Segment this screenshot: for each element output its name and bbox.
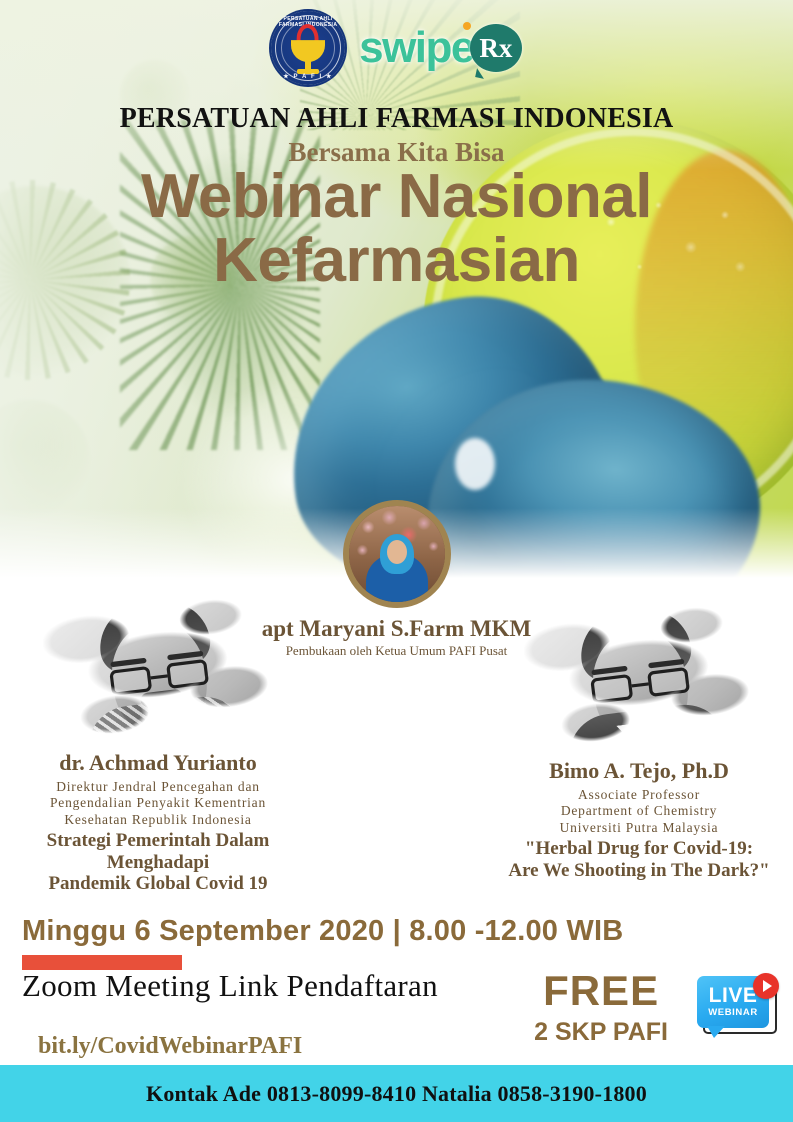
- speaker-left-topic: Strategi Pemerintah Dalam Menghadapi Pan…: [8, 830, 308, 894]
- live-label: LIVE: [709, 986, 758, 1006]
- pafi-emblem-icon: PERSATUAN AHLI FARMASI INDONESIA ★ P A F…: [271, 11, 345, 85]
- play-button-icon: [753, 973, 779, 999]
- speaker-right-photo-mask: [524, 596, 754, 756]
- portrait-lens: [109, 666, 152, 696]
- free-badge: FREE 2 SKP PAFI: [534, 970, 668, 1047]
- pafi-logo-bottom-text: ★ P A F I ★: [271, 73, 345, 80]
- contact-text: Kontak Ade 0813-8099-8410 Natalia 0858-3…: [146, 1081, 647, 1107]
- portrait-lens: [166, 659, 209, 689]
- affiliation-line: Pengendalian Penyakit Kementrian: [8, 795, 308, 811]
- speaker-left-name: dr. Achmad Yurianto: [8, 750, 308, 776]
- avatar: [343, 500, 451, 608]
- speaker-left-affiliation: Direktur Jendral Pencegahan dan Pengenda…: [8, 779, 308, 828]
- speaker-right-affiliation: Associate Professor Department of Chemis…: [489, 787, 789, 836]
- glove-highlight: [455, 438, 495, 490]
- registration-link[interactable]: bit.ly/CovidWebinarPAFI: [38, 1033, 302, 1060]
- topic-line: Pandemik Global Covid 19: [8, 873, 308, 894]
- event-date-time: Minggu 6 September 2020 | 8.00 -12.00 WI…: [22, 915, 623, 948]
- organization-name: PERSATUAN AHLI FARMASI INDONESIA: [0, 103, 793, 135]
- page-title: Webinar Nasional Kefarmasian: [0, 165, 793, 294]
- rx-speech-bubble-icon: Rx: [470, 24, 522, 72]
- logo-row: PERSATUAN AHLI FARMASI INDONESIA ★ P A F…: [0, 8, 793, 88]
- portrait-lens: [590, 674, 633, 704]
- skp-label: 2 SKP PAFI: [534, 1018, 668, 1047]
- speaker-left-block: dr. Achmad Yurianto Direktur Jendral Pen…: [8, 588, 308, 894]
- speaker-left-photo: [43, 588, 273, 748]
- speaker-right-photo: [524, 596, 754, 756]
- webinar-label: WEBINAR: [708, 1007, 758, 1018]
- portrait-lens: [647, 667, 690, 697]
- affiliation-line: Associate Professor: [489, 787, 789, 803]
- webinar-poster: PERSATUAN AHLI FARMASI INDONESIA ★ P A F…: [0, 0, 793, 1122]
- affiliation-line: Direktur Jendral Pencegahan dan: [8, 779, 308, 795]
- affiliation-line: Universiti Putra Malaysia: [489, 820, 789, 836]
- avatar-face: [387, 540, 407, 564]
- portrait-bridge: [150, 674, 167, 679]
- contact-footer: Kontak Ade 0813-8099-8410 Natalia 0858-3…: [0, 1065, 793, 1122]
- swiperx-logo-icon: swipe Rx: [359, 24, 522, 72]
- speaker-right-topic: "Herbal Drug for Covid-19: Are We Shooti…: [489, 838, 789, 881]
- registration-label: Zoom Meeting Link Pendaftaran: [22, 968, 438, 1004]
- portrait-bridge: [631, 682, 648, 687]
- affiliation-line: Department of Chemistry: [489, 803, 789, 819]
- title-line-2: Kefarmasian: [0, 229, 793, 293]
- speaker-right-name: Bimo A. Tejo, Ph.D: [489, 758, 789, 784]
- swipe-wordmark: swipe: [359, 26, 474, 70]
- topic-line: "Herbal Drug for Covid-19:: [489, 838, 789, 859]
- live-webinar-badge: LIVE WEBINAR: [697, 976, 779, 1040]
- rx-label: Rx: [479, 35, 512, 62]
- free-label: FREE: [534, 970, 668, 1012]
- title-line-1: Webinar Nasional: [141, 162, 652, 231]
- speaker-right-block: Bimo A. Tejo, Ph.D Associate Professor D…: [489, 596, 789, 881]
- affiliation-line: Kesehatan Republik Indonesia: [8, 812, 308, 828]
- topic-line: Are We Shooting in The Dark?": [489, 860, 789, 881]
- speaker-left-photo-mask: [43, 588, 273, 748]
- topic-line: Strategi Pemerintah Dalam Menghadapi: [8, 830, 308, 873]
